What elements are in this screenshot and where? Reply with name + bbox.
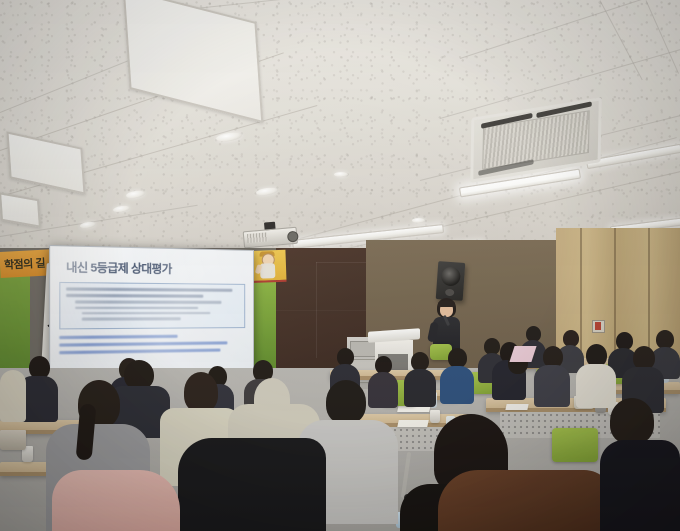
fire-hydrant-sign — [592, 320, 605, 333]
handout-paper — [505, 404, 528, 410]
fur-collar-coat — [438, 470, 614, 531]
presentation-slide: 내신 5등급제 상대평가 — [50, 246, 253, 374]
slide-title: 내신 5등급제 상대평가 — [66, 258, 245, 278]
projector — [242, 222, 300, 247]
attendee — [600, 398, 680, 531]
attendee — [178, 438, 326, 531]
attendee — [576, 344, 616, 406]
pink-fleece-garment — [52, 470, 180, 531]
lecture-hall-photo: 학점의 길 체험 안내 내신 5등급제 상대평가 — [0, 0, 680, 531]
attendee — [404, 352, 436, 404]
slide-footer-lines — [59, 334, 245, 354]
projection-screen: 내신 5등급제 상대평가 — [49, 245, 254, 375]
chair — [552, 428, 598, 462]
wall-banner-left-text: 학점의 길 — [4, 255, 46, 273]
wall-speaker — [436, 261, 466, 301]
mascot-body-icon — [260, 263, 276, 279]
attendee — [534, 346, 570, 404]
attendee — [0, 362, 26, 420]
tissue-box — [0, 430, 26, 450]
attendee — [440, 348, 474, 402]
ceiling-spotlight — [334, 172, 348, 177]
slide-body-box — [59, 282, 245, 329]
ceiling-spotlight — [412, 218, 425, 223]
